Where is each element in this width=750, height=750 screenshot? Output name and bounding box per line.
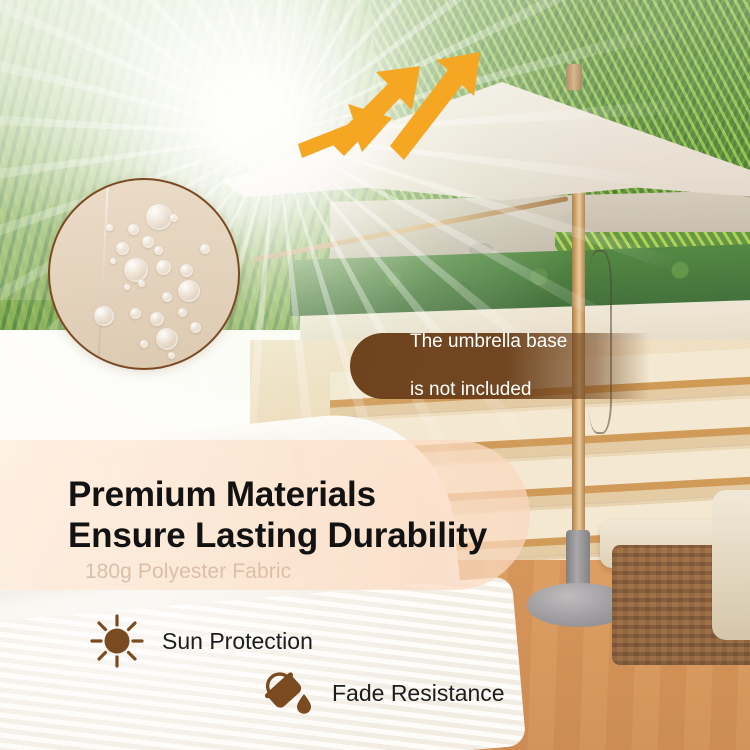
- upward-arrows: [296, 52, 496, 167]
- fabric-callout: 180g Polyester Fabric: [48, 178, 240, 370]
- headline-line-1: Premium Materials: [68, 474, 530, 515]
- product-marketing-image: 180g Polyester Fabric The umbrella base …: [0, 0, 750, 750]
- notice-line-2: is not included: [380, 378, 567, 402]
- headline-panel: Premium Materials Ensure Lasting Durabil…: [0, 440, 530, 590]
- notice-line-1: The umbrella base: [380, 330, 567, 354]
- fabric-closeup-circle: [48, 178, 240, 370]
- feature-fade-resistance: Fade Resistance: [258, 664, 505, 722]
- fabric-seam: [97, 180, 109, 370]
- feature-label: Fade Resistance: [332, 680, 505, 707]
- base-not-included-notice: The umbrella base is not included: [350, 333, 650, 399]
- sun-icon: [88, 612, 146, 670]
- paint-bucket-drop-icon: [258, 664, 316, 722]
- feature-sun-protection: Sun Protection: [88, 612, 313, 670]
- headline-line-2: Ensure Lasting Durability: [68, 515, 530, 556]
- feature-label: Sun Protection: [162, 628, 313, 655]
